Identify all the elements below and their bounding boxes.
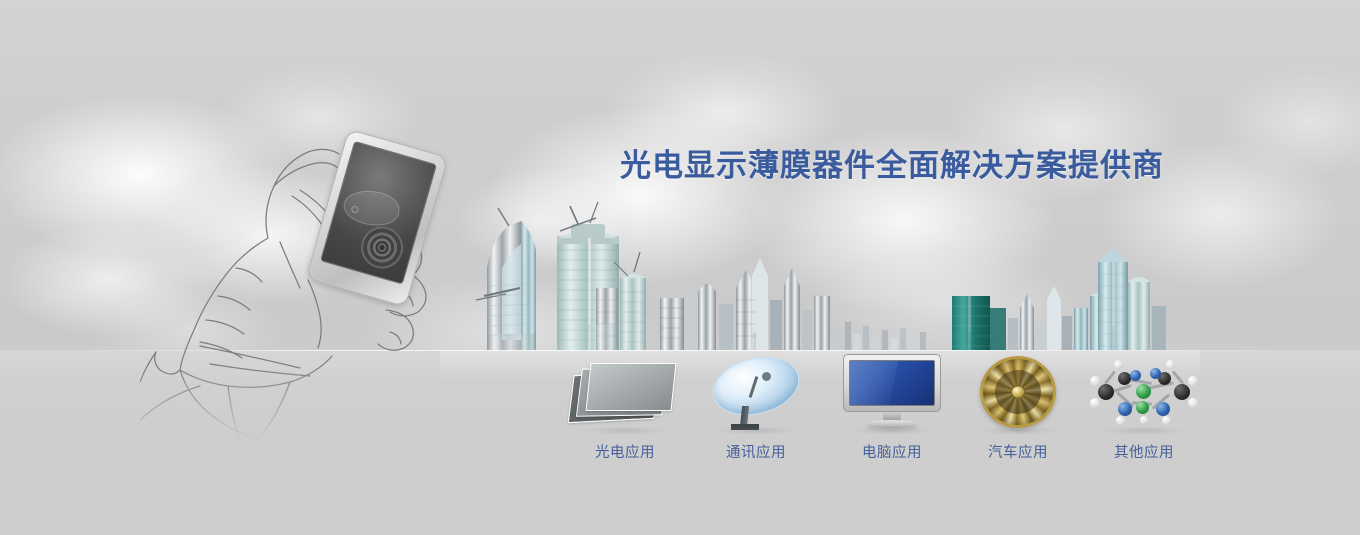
glass-film-panels-icon: [555, 352, 695, 432]
application-caption: 电脑应用: [822, 441, 962, 462]
application-caption: 其他应用: [1074, 441, 1214, 462]
application-item-computer[interactable]: 电脑应用: [822, 352, 962, 462]
computer-monitor-icon: [822, 352, 962, 432]
application-item-other[interactable]: 其他应用: [1074, 352, 1214, 462]
application-item-automotive[interactable]: 汽车应用: [948, 352, 1088, 462]
application-caption: 汽车应用: [948, 441, 1088, 462]
application-item-communication[interactable]: 通讯应用: [686, 352, 826, 462]
application-icon-row: 光电应用 通讯应用: [0, 0, 1360, 535]
satellite-dish-icon: [686, 352, 826, 432]
molecule-model-icon: [1074, 352, 1214, 432]
alloy-wheel-icon: [948, 352, 1088, 432]
application-item-optoelectronic[interactable]: 光电应用: [555, 352, 695, 462]
banner-stage: 光电显示薄膜器件全面解决方案提供商 光电应用: [0, 0, 1360, 535]
application-caption: 光电应用: [555, 441, 695, 462]
application-caption: 通讯应用: [686, 441, 826, 462]
